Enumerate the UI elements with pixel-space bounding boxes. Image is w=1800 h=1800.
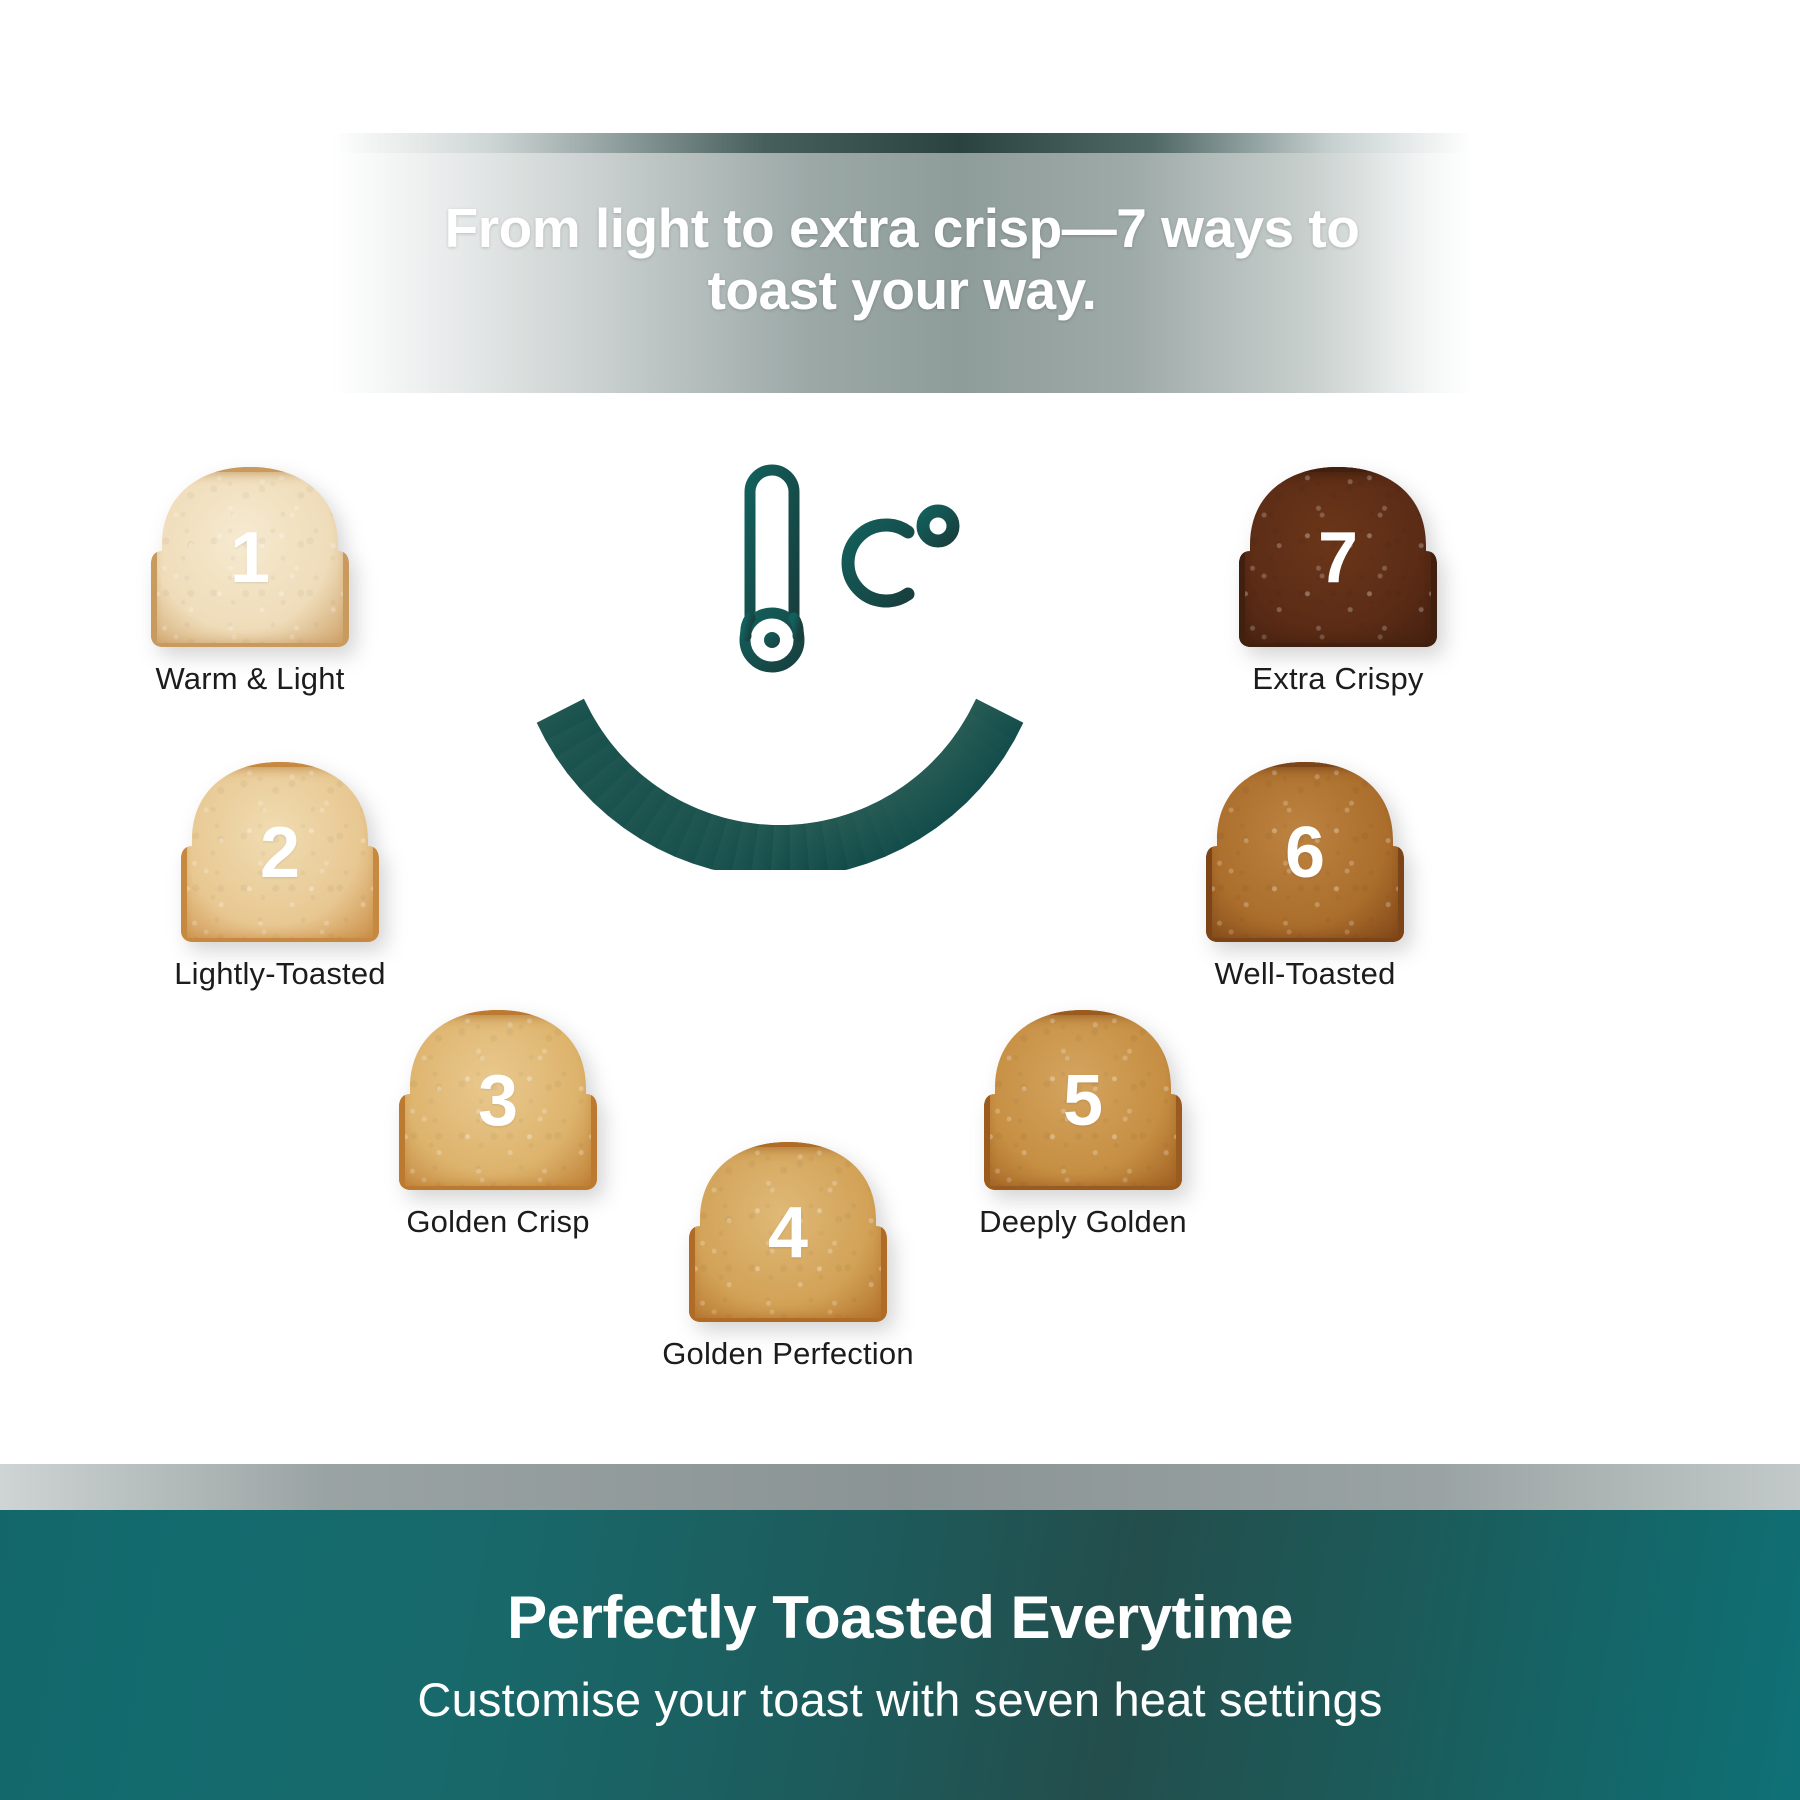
header-banner: From light to extra crisp—7 ways to toas… (332, 133, 1472, 393)
footer-top-strip (0, 1464, 1800, 1514)
infographic-canvas: From light to extra crisp—7 ways to toas… (0, 0, 1800, 1800)
toast-setting-7[interactable]: 7Extra Crispy (1238, 465, 1438, 650)
setting-number: 5 (983, 1065, 1183, 1137)
toast-setting-2[interactable]: 2Lightly-Toasted (180, 760, 380, 945)
bread-slice-icon: 2 (180, 760, 380, 945)
bread-slice-icon: 5 (983, 1008, 1183, 1193)
bread-slice-icon: 6 (1205, 760, 1405, 945)
setting-label: Golden Perfection (662, 1336, 914, 1372)
setting-number: 6 (1205, 817, 1405, 889)
bread-slice-icon: 1 (150, 465, 350, 650)
bread-slice-icon: 4 (688, 1140, 888, 1325)
celsius-degree-icon (830, 498, 970, 628)
bread-slice-icon: 3 (398, 1008, 598, 1193)
setting-label: Lightly-Toasted (174, 956, 386, 992)
setting-label: Deeply Golden (979, 1204, 1187, 1240)
footer-subtitle: Customise your toast with seven heat set… (417, 1672, 1382, 1727)
setting-number: 1 (150, 522, 350, 594)
setting-label: Golden Crisp (406, 1204, 589, 1240)
thermometer-icon (692, 450, 842, 690)
page-title: From light to extra crisp—7 ways to toas… (402, 197, 1402, 321)
heat-gauge: C° (470, 440, 1090, 870)
setting-label: Extra Crispy (1252, 661, 1423, 697)
setting-number: 7 (1238, 522, 1438, 594)
setting-label: Warm & Light (155, 661, 344, 697)
setting-label: Well-Toasted (1214, 956, 1395, 992)
header-banner-top-edge (332, 133, 1472, 153)
toast-setting-5[interactable]: 5Deeply Golden (983, 1008, 1183, 1193)
toast-setting-4[interactable]: 4Golden Perfection (688, 1140, 888, 1325)
toast-setting-1[interactable]: 1Warm & Light (150, 465, 350, 650)
setting-number: 2 (180, 817, 380, 889)
setting-number: 4 (688, 1197, 888, 1269)
toast-setting-6[interactable]: 6Well-Toasted (1205, 760, 1405, 945)
footer-title: Perfectly Toasted Everytime (507, 1583, 1293, 1652)
footer-banner: Perfectly Toasted Everytime Customise yo… (0, 1510, 1800, 1800)
setting-number: 3 (398, 1065, 598, 1137)
toast-setting-3[interactable]: 3Golden Crisp (398, 1008, 598, 1193)
bread-slice-icon: 7 (1238, 465, 1438, 650)
